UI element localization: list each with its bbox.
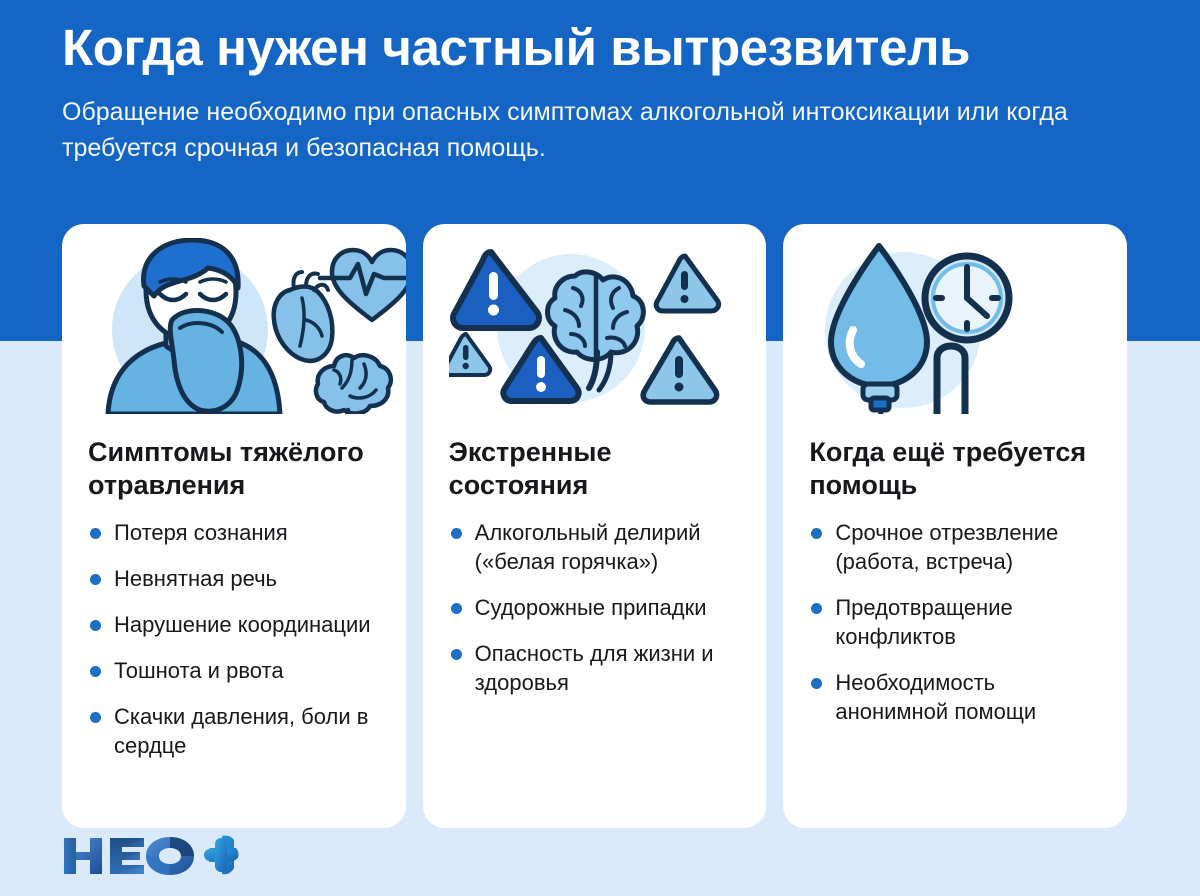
list-item: Необходимость анонимной помощи [809, 668, 1105, 726]
iv-drip-clock-illustration [809, 238, 1105, 414]
list-item: Судорожные припадки [449, 593, 745, 622]
list-item: Срочное отрезвление (работа, встреча) [809, 518, 1105, 576]
infographic-poster: Когда нужен частный вытрезвитель Обращен… [0, 0, 1200, 896]
page-title: Когда нужен частный вытрезвитель [62, 18, 1140, 78]
warning-triangle-icon [449, 334, 490, 375]
card-severe-poisoning: Симптомы тяжёлого отравления Потеря созн… [62, 224, 406, 828]
list-item: Невнятная речь [88, 564, 384, 593]
list-item: Алкогольный делирий («белая горячка») [449, 518, 745, 576]
card-bullet-list: Алкогольный делирий («белая горячка») Су… [449, 518, 745, 714]
list-item: Опасность для жизни и здоровья [449, 639, 745, 697]
list-item: Нарушение координации [88, 610, 384, 639]
card-title: Когда ещё требуется помощь [809, 436, 1105, 502]
header-content: Когда нужен частный вытрезвитель Обращен… [0, 0, 1200, 166]
warning-triangle-icon [656, 256, 718, 311]
list-item: Предотвращение конфликтов [809, 593, 1105, 651]
brand-logo [60, 834, 240, 878]
cards-row: Симптомы тяжёлого отравления Потеря созн… [62, 224, 1127, 828]
card-emergency-states: Экстренные состояния Алкогольный делирий… [423, 224, 767, 828]
page-subtitle: Обращение необходимо при опасных симптом… [62, 94, 1092, 166]
card-title: Экстренные состояния [449, 436, 745, 502]
card-when-else-help-needed: Когда ещё требуется помощь Срочное отрез… [783, 224, 1127, 828]
list-item: Скачки давления, боли в сердце [88, 702, 384, 760]
sick-man-heart-brain-illustration [88, 238, 384, 414]
clock-icon [925, 256, 1009, 340]
neo-plus-logo-icon [60, 834, 240, 878]
card-title: Симптомы тяжёлого отравления [88, 436, 384, 502]
card-bullet-list: Потеря сознания Невнятная речь Нарушение… [88, 518, 384, 777]
card-bullet-list: Срочное отрезвление (работа, встреча) Пр… [809, 518, 1105, 743]
brain-warning-triangles-illustration [449, 238, 745, 414]
list-item: Тошнота и рвота [88, 656, 384, 685]
list-item: Потеря сознания [88, 518, 384, 547]
warning-triangle-icon [643, 338, 716, 402]
